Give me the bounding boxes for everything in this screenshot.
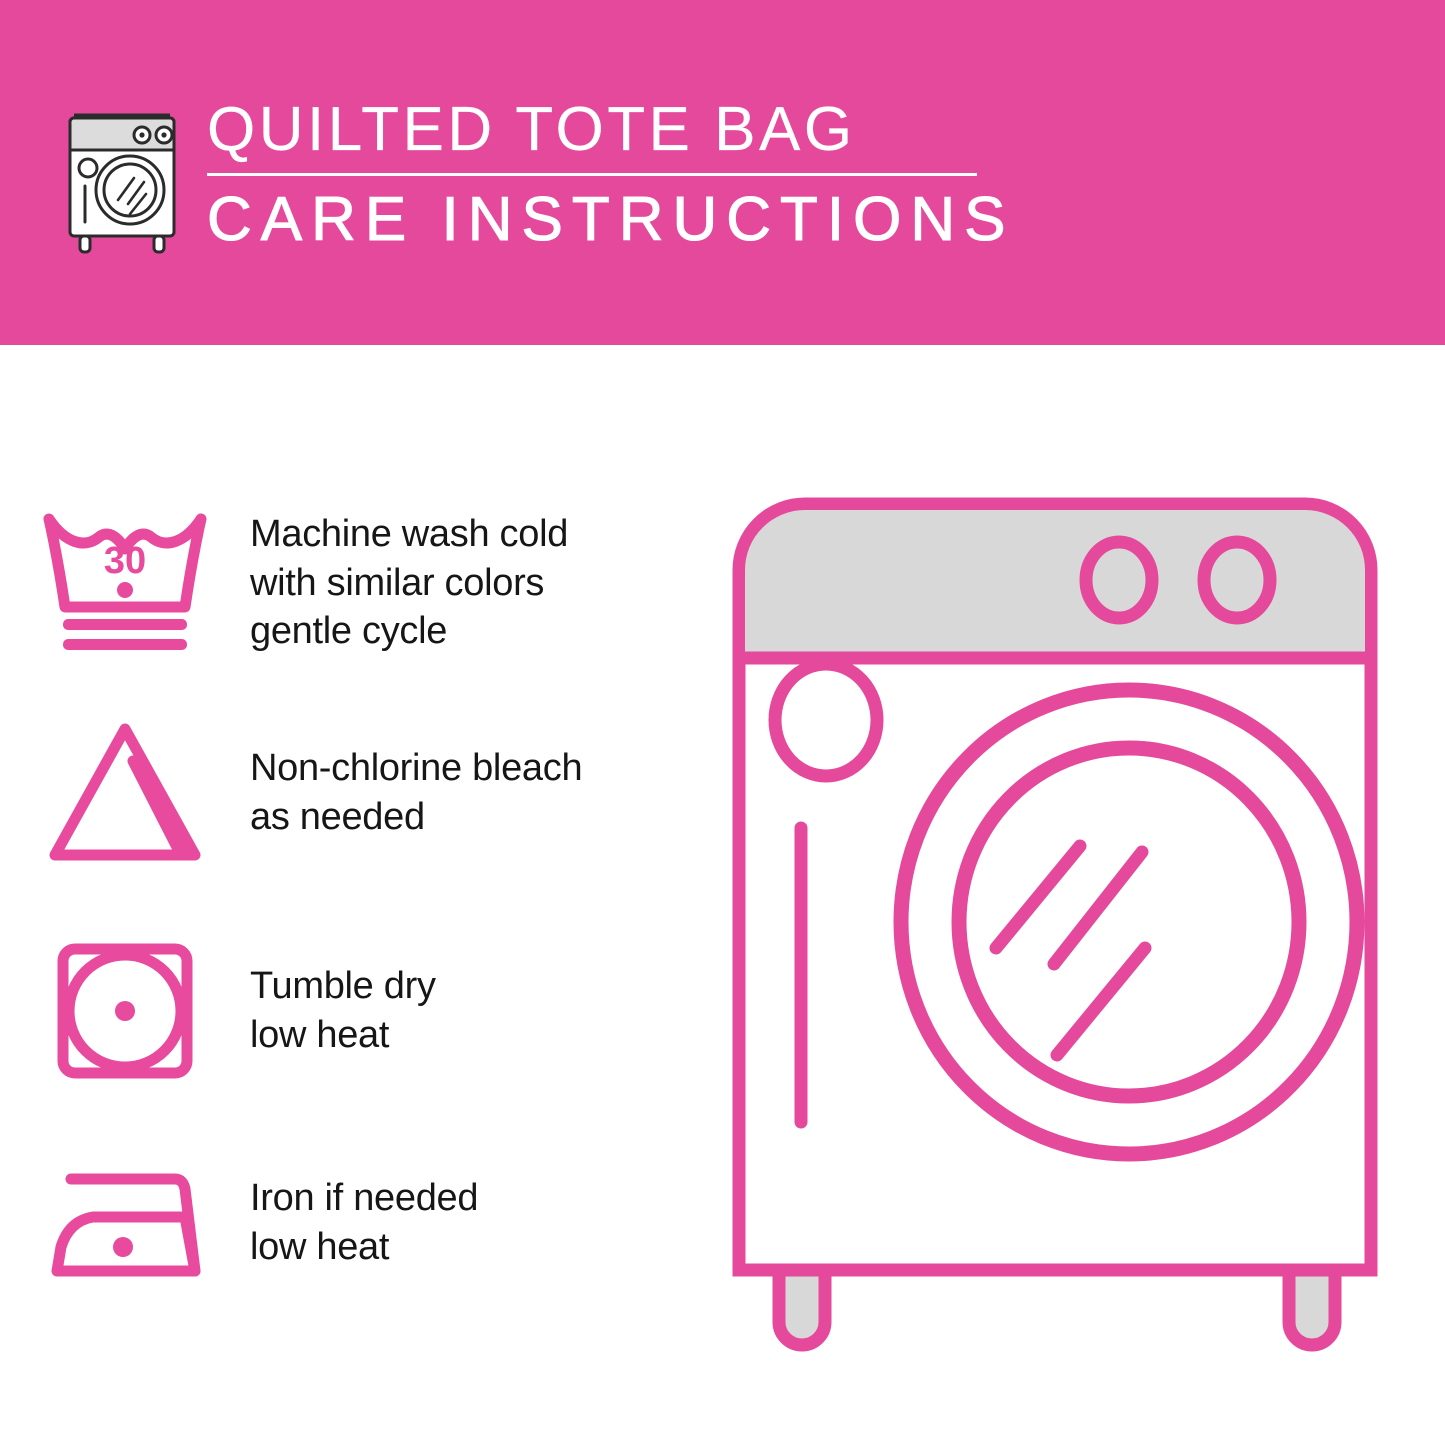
header-band: QUILTED TOTE BAG CARE INSTRUCTIONS <box>0 0 1445 345</box>
control-knob-left <box>1086 542 1152 618</box>
washing-machine-icon <box>58 104 186 254</box>
header-text-block: QUILTED TOTE BAG CARE INSTRUCTIONS <box>207 98 997 251</box>
leg-left <box>779 1270 825 1345</box>
page-subtitle: CARE INSTRUCTIONS <box>207 188 997 251</box>
care-row-machine-wash: 30 Machine wash cold with similar colors… <box>0 488 700 678</box>
wash-temperature-label: 30 <box>104 540 146 582</box>
care-instructions-page: QUILTED TOTE BAG CARE INSTRUCTIONS 30 <box>0 0 1445 1445</box>
front-load-washing-machine-illustration <box>705 470 1405 1370</box>
care-instruction-list: 30 Machine wash cold with similar colors… <box>0 345 700 1445</box>
non-chlorine-bleach-triangle-icon <box>0 713 250 873</box>
care-row-bleach: Non-chlorine bleach as needed <box>0 705 700 880</box>
machine-wash-tub-icon: 30 <box>0 503 250 663</box>
care-row-tumble-dry: Tumble dry low heat <box>0 923 700 1098</box>
care-row-iron: Iron if needed low heat <box>0 1135 700 1310</box>
care-label-iron: Iron if needed low heat <box>250 1174 700 1271</box>
tumble-dry-icon <box>0 931 250 1091</box>
page-title: QUILTED TOTE BAG <box>207 98 997 161</box>
dispenser-circle <box>775 664 877 776</box>
title-divider <box>207 173 977 176</box>
control-knob-right <box>1204 542 1270 618</box>
care-label-bleach: Non-chlorine bleach as needed <box>250 744 700 841</box>
iron-icon <box>0 1143 250 1303</box>
leg-right <box>1289 1270 1335 1345</box>
care-label-machine-wash: Machine wash cold with similar colors ge… <box>250 510 700 656</box>
care-label-tumble-dry: Tumble dry low heat <box>250 962 700 1059</box>
